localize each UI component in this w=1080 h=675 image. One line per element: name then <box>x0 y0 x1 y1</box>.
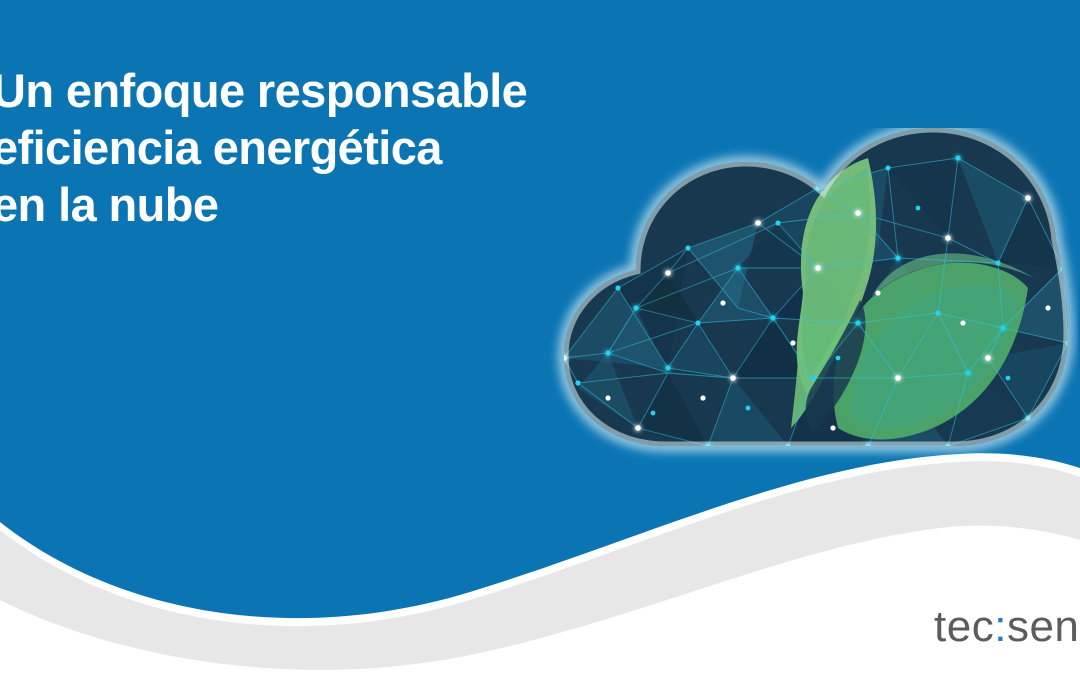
logo-colon-icon: : <box>994 605 1007 649</box>
logo-text-left: tec <box>934 605 994 649</box>
slide-canvas: Un enfoque responsable eficiencia energé… <box>0 0 1080 675</box>
headline-line-1: Un enfoque responsable <box>0 62 672 119</box>
logo-text-right: sen <box>1007 605 1079 649</box>
headline-line-3: en la nube <box>0 176 672 233</box>
slide-headline: Un enfoque responsable eficiencia energé… <box>0 62 672 233</box>
headline-line-2: eficiencia energética <box>0 119 672 176</box>
tecsens-logo[interactable]: tec : sen <box>934 604 1079 650</box>
